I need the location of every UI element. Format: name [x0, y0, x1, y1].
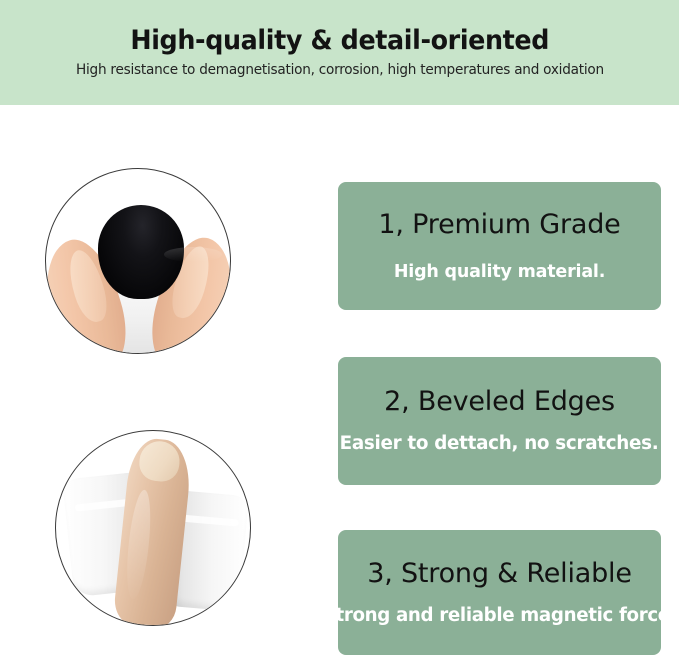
black-disc-magnet-shape — [98, 205, 184, 299]
finger-separating-nail-shape — [138, 439, 182, 483]
feature-card-description: High quality material. — [394, 264, 605, 282]
feature-card-beveled-edges: 2, Beveled Edges Easier to dettach, no s… — [338, 357, 661, 485]
page-subtitle: High resistance to demagnetisation, corr… — [76, 63, 604, 77]
feature-card-description: Easier to dettach, no scratches. — [340, 435, 659, 454]
magnet-right-highlight-shape — [182, 515, 238, 527]
feature-card-title: 3, Strong & Reliable — [367, 560, 632, 587]
feature-card-premium-grade: 1, Premium Grade High quality material. — [338, 182, 661, 310]
header-banner: High-quality & detail-oriented High resi… — [0, 0, 679, 105]
page-title: High-quality & detail-oriented — [130, 27, 549, 54]
disc-highlight-shape — [164, 247, 222, 262]
feature-card-title: 1, Premium Grade — [378, 211, 620, 238]
finger-separating-sheen-shape — [123, 489, 154, 600]
product-photo-magnet-disc — [45, 168, 231, 354]
feature-card-title: 2, Beveled Edges — [384, 388, 615, 415]
feature-card-description: Strong and reliable magnetic force. — [323, 607, 677, 626]
feature-card-strong-reliable: 3, Strong & Reliable Strong and reliable… — [338, 530, 661, 655]
product-photo-magnet-pair — [55, 430, 251, 626]
photo-inner-disc — [46, 169, 230, 353]
photo-inner-pair — [56, 431, 250, 625]
